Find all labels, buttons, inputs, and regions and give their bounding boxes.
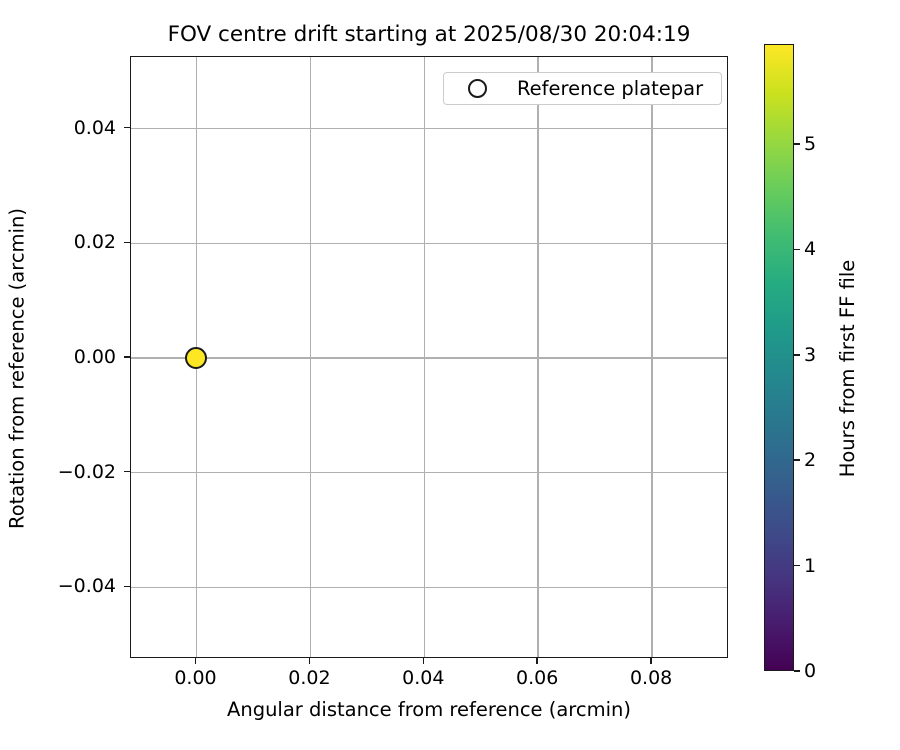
y-axis-label: Rotation from reference (arcmin) [6,68,29,670]
legend: Reference platepar [443,72,722,105]
gridline-horizontal [131,587,727,589]
data-point-reference-platepar[interactable] [185,347,207,369]
colorbar-tick-label: 2 [804,449,816,471]
x-tick-label: 0.08 [630,667,672,689]
page-title: FOV centre drift starting at 2025/08/30 … [130,22,728,48]
colorbar-tick-mark [794,565,800,567]
x-tick-label: 0.02 [288,667,330,689]
colorbar-label: Hours from first FF file [836,55,859,682]
colorbar-tick-label: 3 [804,344,816,366]
colorbar-tick-mark [794,143,800,145]
gridline-horizontal [131,472,727,474]
y-tick-label: 0.00 [74,346,116,368]
colorbar-tick-mark [794,459,800,461]
legend-circle-outline-icon [468,79,487,98]
y-tick-mark [124,242,130,244]
x-tick-label: 0.04 [402,667,444,689]
x-tick-mark [195,658,197,664]
colorbar-gradient [765,45,793,670]
colorbar-tick-mark [794,670,800,672]
colorbar [764,44,794,671]
legend-item-label: Reference platepar [517,77,703,100]
x-tick-mark [536,658,538,664]
y-tick-mark [124,471,130,473]
gridline-horizontal [131,243,727,245]
y-tick-label: −0.04 [58,575,116,597]
y-tick-label: 0.02 [74,231,116,253]
x-tick-mark [650,658,652,664]
colorbar-tick-label: 5 [804,133,816,155]
x-tick-label: 0.00 [174,667,216,689]
gridline-horizontal [131,357,727,359]
gridline-horizontal [131,128,727,130]
y-tick-label: −0.02 [58,461,116,483]
y-tick-mark [124,586,130,588]
y-tick-mark [124,356,130,358]
x-tick-mark [309,658,311,664]
colorbar-tick-label: 0 [804,660,816,682]
colorbar-tick-mark [794,354,800,356]
y-tick-mark [124,127,130,129]
x-axis-label: Angular distance from reference (arcmin) [130,698,728,721]
colorbar-tick-label: 4 [804,238,816,260]
plot-axes [130,56,728,658]
colorbar-tick-label: 1 [804,555,816,577]
colorbar-tick-mark [794,249,800,251]
plot-area [131,57,727,657]
matplotlib-figure: FOV centre drift starting at 2025/08/30 … [0,0,900,750]
x-tick-mark [423,658,425,664]
x-tick-label: 0.06 [516,667,558,689]
y-tick-label: 0.04 [74,117,116,139]
